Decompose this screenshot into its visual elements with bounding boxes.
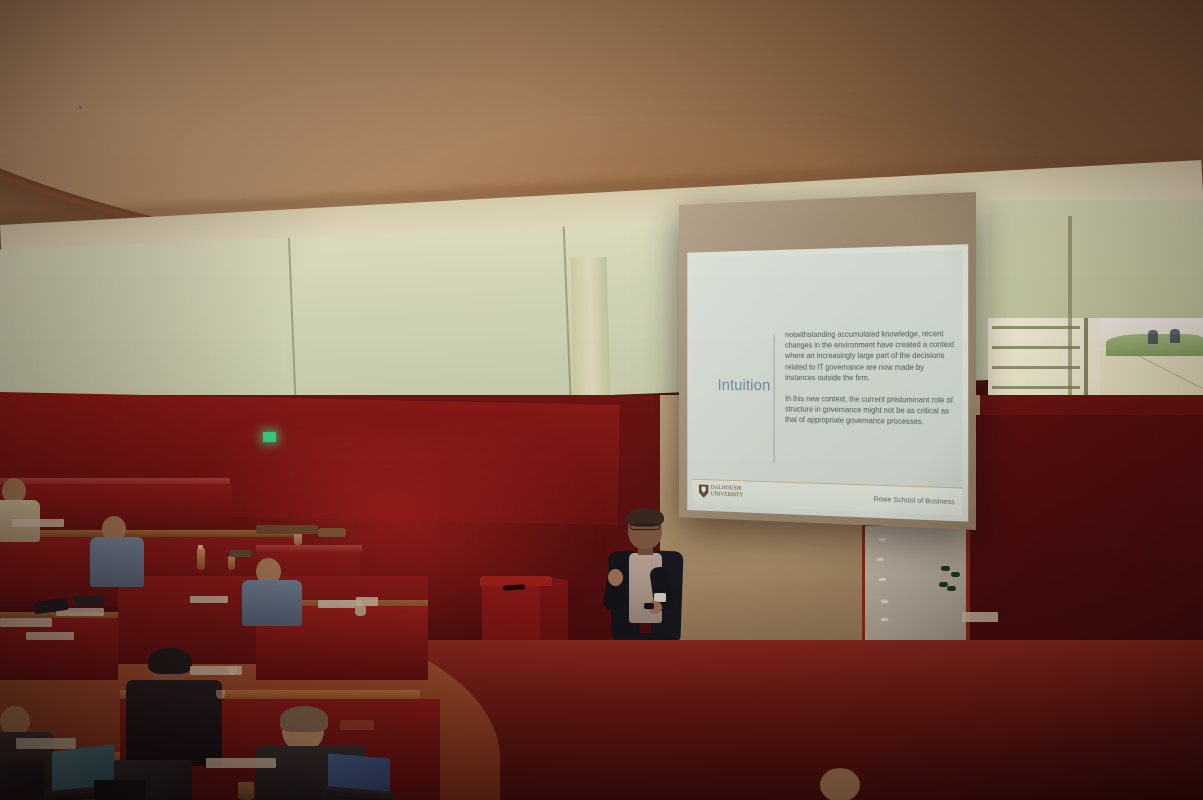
paper [190,596,228,603]
logo-line-2: UNIVERSITY [711,491,744,498]
presenter-left-hand [608,569,623,586]
notebook [230,550,252,557]
slide: Intuition notwithstanding accumulated kn… [692,250,962,487]
slide-divider-rule [774,333,775,462]
lecture-hall-photo: Intuition notwithstanding accumulated kn… [0,0,1203,800]
water-bottle [197,548,205,570]
paper [962,612,998,622]
emergency-exit-sign [263,432,276,442]
slide-body: notwithstanding accumulated knowledge, r… [785,328,955,428]
slide-footer-right: Rowe School of Business [873,494,954,506]
window-figure [1170,329,1180,343]
device [74,596,104,606]
laptop-lid[interactable] [0,760,44,794]
audience-member [240,558,312,622]
device [340,720,374,730]
dalhousie-logo: DALHOUSIE UNIVERSITY [699,485,743,500]
logo-text: DALHOUSIE UNIVERSITY [711,485,744,499]
window-figure [1148,330,1158,344]
structural-pillar [571,257,611,418]
water-bottle [228,556,235,570]
slide-paragraph-1: notwithstanding accumulated knowledge, r… [785,328,955,384]
window-upper-panel [988,200,1203,318]
tier-rail [256,545,362,552]
audience-member [92,516,156,586]
paper [26,632,74,640]
audience-torso [126,680,222,766]
screen-surface: Intuition notwithstanding accumulated kn… [687,244,968,521]
laptop[interactable] [326,756,392,800]
paper [356,597,378,606]
slide-title: Intuition [718,376,771,395]
glass-mullion [563,227,572,397]
paper [12,519,64,527]
audience-head [820,768,860,800]
audience-hair [148,648,192,674]
paper [0,618,52,627]
whiteboard-marker [951,572,960,577]
shield-crest-icon [699,485,708,498]
bag [318,528,346,537]
bottle-cap [198,545,203,549]
audience-torso [242,580,302,626]
seating-tier [0,618,118,680]
presenter-glasses [630,524,660,530]
whiteboard-marker [947,586,956,591]
glass-mullion [288,238,297,408]
keyboard [94,780,146,800]
drinking-glass [216,690,225,699]
ceiling-sensor-dot [79,106,82,109]
cup [238,782,254,800]
audience-member [0,478,42,538]
cup [355,606,366,616]
paper [206,758,276,768]
laptop[interactable] [0,760,46,800]
audience-hair [280,706,328,732]
bag [256,525,318,534]
slide-paragraph-2: In this new context, the current predomi… [785,393,955,428]
whiteboard-marker [941,566,950,571]
audience-torso [90,537,144,587]
audience-member [806,768,896,800]
drinking-glass [228,666,237,675]
presentation-clicker [644,603,654,609]
projection-screen: Intuition notwithstanding accumulated kn… [679,192,976,530]
